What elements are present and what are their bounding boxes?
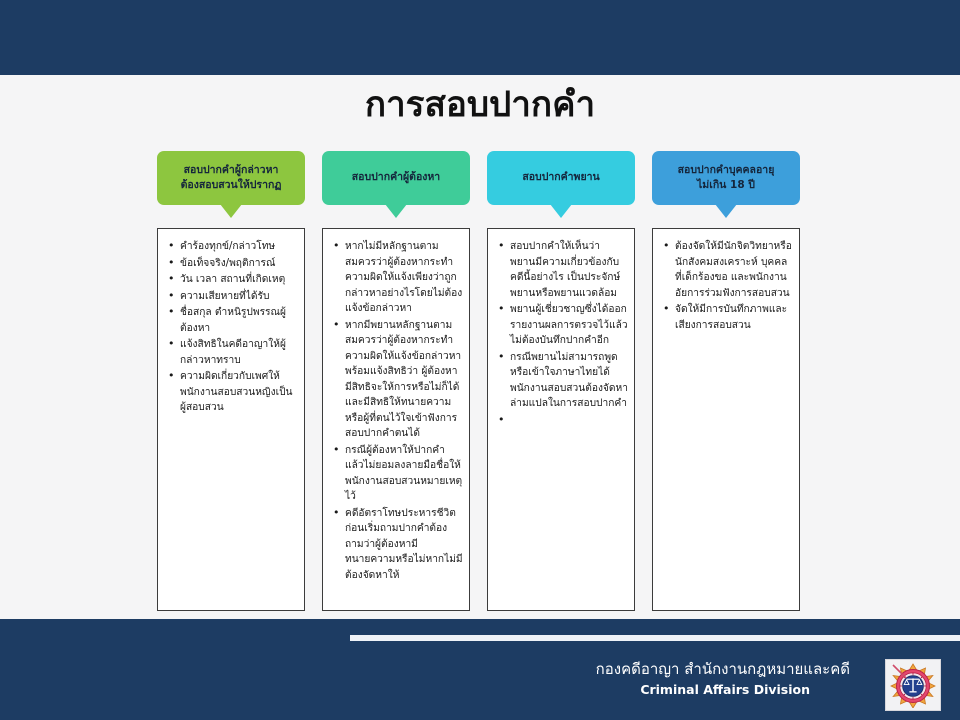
list-item: ความผิดเกี่ยวกับเพศให้พนักงานสอบสวนหญิงเ…: [179, 369, 298, 416]
list-item: สอบปากคำให้เห็นว่า พยานมีความเกี่ยวข้องก…: [509, 239, 628, 301]
footer-accent-rule: [350, 635, 960, 641]
royal-thai-police-legal-affairs-emblem-icon: [885, 659, 941, 711]
list-item: จัดให้มีการบันทึกภาพและเสียงการสอบสวน: [674, 302, 793, 333]
header-pointer-arrow-icon: [550, 204, 572, 218]
top-navy-band: [0, 0, 960, 75]
header-chip-accuser[interactable]: สอบปากคำผู้กล่าวหา ต้องสอบสวนให้ปรากฏ: [157, 151, 305, 205]
column-suspect: สอบปากคำผู้ต้องหา หากไม่มีหลักฐานตามสมคว…: [322, 151, 470, 611]
header-chip-witness[interactable]: สอบปากคำพยาน: [487, 151, 635, 205]
list-item: พยานผู้เชี่ยวชาญซึ่งได้ออกรายงานผลการตรว…: [509, 302, 628, 349]
bullet-list-suspect: หากไม่มีหลักฐานตามสมควรว่าผู้ต้องหากระทำ…: [327, 239, 463, 583]
list-item: ความเสียหายที่ได้รับ: [179, 289, 298, 305]
columns-container: สอบปากคำผู้กล่าวหา ต้องสอบสวนให้ปรากฏ คำ…: [157, 151, 803, 611]
header-chip-label: สอบปากคำผู้ต้องหา: [352, 170, 440, 185]
header-chip-label: สอบปากคำบุคคลอายุ ไม่เกิน 18 ปี: [678, 163, 775, 193]
header-pointer-arrow-icon: [220, 204, 242, 218]
column-accuser: สอบปากคำผู้กล่าวหา ต้องสอบสวนให้ปรากฏ คำ…: [157, 151, 305, 611]
column-header-suspect[interactable]: สอบปากคำผู้ต้องหา: [322, 151, 470, 218]
header-chip-label: สอบปากคำพยาน: [522, 170, 599, 185]
header-pointer-arrow-icon: [715, 204, 737, 218]
list-item-empty: [509, 413, 628, 424]
list-item: กรณีพยานไม่สามารถพูดหรือเข้าใจภาษาไทยได้…: [509, 350, 628, 412]
content-card-minor: ต้องจัดให้มีนักจิตวิทยาหรือนักสังคมสงเคร…: [652, 228, 800, 611]
list-item: ต้องจัดให้มีนักจิตวิทยาหรือนักสังคมสงเคร…: [674, 239, 793, 301]
list-item: กรณีผู้ต้องหาให้ปากคำแล้วไม่ยอมลงลายมือช…: [344, 443, 463, 505]
content-card-accuser: คำร้องทุกข์/กล่าวโทษ ข้อเท็จจริง/พฤติการ…: [157, 228, 305, 611]
content-card-suspect: หากไม่มีหลักฐานตามสมควรว่าผู้ต้องหากระทำ…: [322, 228, 470, 611]
list-item: หากมีพยานหลักฐานตามสมควรว่าผู้ต้องหากระท…: [344, 318, 463, 442]
footer-division-thai: กองคดีอาญา สำนักงานกฎหมายและคดี: [350, 659, 850, 681]
bullet-list-minor: ต้องจัดให้มีนักจิตวิทยาหรือนักสังคมสงเคร…: [657, 239, 793, 333]
list-item: ข้อเท็จจริง/พฤติการณ์: [179, 256, 298, 272]
column-header-accuser[interactable]: สอบปากคำผู้กล่าวหา ต้องสอบสวนให้ปรากฏ: [157, 151, 305, 218]
column-witness: สอบปากคำพยาน สอบปากคำให้เห็นว่า พยานมีคว…: [487, 151, 635, 611]
list-item: วัน เวลา สถานที่เกิดเหตุ: [179, 272, 298, 288]
header-chip-minor[interactable]: สอบปากคำบุคคลอายุ ไม่เกิน 18 ปี: [652, 151, 800, 205]
column-header-minor[interactable]: สอบปากคำบุคคลอายุ ไม่เกิน 18 ปี: [652, 151, 800, 218]
list-item: หากไม่มีหลักฐานตามสมควรว่าผู้ต้องหากระทำ…: [344, 239, 463, 317]
header-chip-suspect[interactable]: สอบปากคำผู้ต้องหา: [322, 151, 470, 205]
header-pointer-arrow-icon: [385, 204, 407, 218]
header-chip-label: สอบปากคำผู้กล่าวหา ต้องสอบสวนให้ปรากฏ: [181, 163, 282, 193]
list-item: ชื่อสกุล ตำหนิรูปพรรณผู้ต้องหา: [179, 305, 298, 336]
list-item: แจ้งสิทธิในคดีอาญาให้ผู้กล่าวหาทราบ: [179, 337, 298, 368]
footer-division-english: Criminal Affairs Division: [350, 681, 850, 700]
list-item: คำร้องทุกข์/กล่าวโทษ: [179, 239, 298, 255]
column-minor: สอบปากคำบุคคลอายุ ไม่เกิน 18 ปี ต้องจัดใ…: [652, 151, 800, 611]
content-card-witness: สอบปากคำให้เห็นว่า พยานมีความเกี่ยวข้องก…: [487, 228, 635, 611]
footer-credits: กองคดีอาญา สำนักงานกฎหมายและคดี Criminal…: [350, 659, 850, 700]
list-item: คดีอัตราโทษประหารชีวิตก่อนเริ่มถามปากคำต…: [344, 506, 463, 584]
page-title: การสอบปากคำ: [0, 84, 960, 128]
bullet-list-witness: สอบปากคำให้เห็นว่า พยานมีความเกี่ยวข้องก…: [492, 239, 628, 424]
column-header-witness[interactable]: สอบปากคำพยาน: [487, 151, 635, 218]
bullet-list-accuser: คำร้องทุกข์/กล่าวโทษ ข้อเท็จจริง/พฤติการ…: [162, 239, 298, 416]
